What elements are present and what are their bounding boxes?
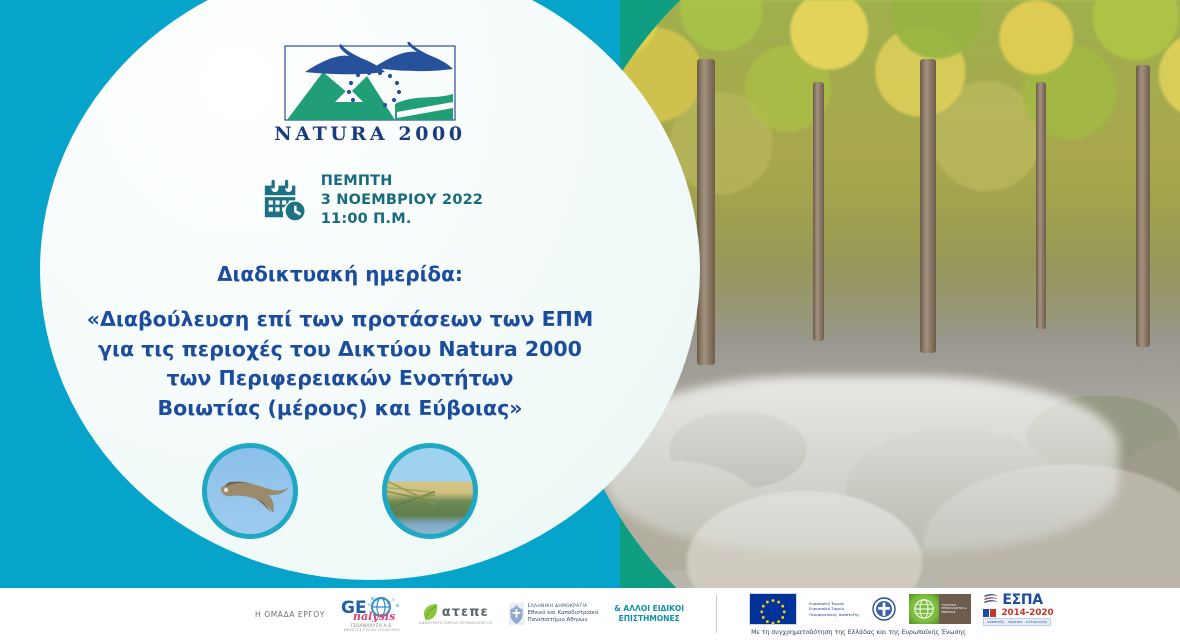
poster-canvas: NATURA 2000 (0, 0, 1180, 640)
espa-tagline: ανάπτυξη - εργασία - αλληλεγγύη (983, 618, 1051, 626)
geoanalysis-caption-2: ΜΕΛΕΤΕΣ ΕΡΓΩΝ ΥΠΟΔΟΜΗΣ (344, 628, 400, 632)
european-union-flag (749, 593, 797, 625)
stream-water (606, 376, 1119, 552)
footer-divider (716, 595, 717, 633)
poster-content: NATURA 2000 (60, 0, 680, 588)
event-title-line: των Περιφερειακών Ενοτήτων (60, 364, 620, 394)
eu-caption: Ευρωπαϊκή Ένωση Ευρωπαϊκό Ταμείο Περιφερ… (809, 601, 859, 616)
event-date: 3 ΝΟΕΜΒΡΙΟΥ 2022 (321, 191, 483, 210)
inset-photo-group (60, 443, 620, 539)
natura-logo-wordmark: NATURA 2000 (274, 123, 465, 145)
other-scientists-line-1: & ΑΛΛΟΙ ΕΙΔΙΚΟΙ (614, 604, 684, 615)
event-time: 11:00 Π.Μ. (321, 210, 483, 229)
atepe-logo[interactable]: ατεπε ΑΝΩΝΥΜΗ ΕΤΑΙΡΕΙΑ ΠΕΡΙΒΑΛΛΟΝΤΟΣ (419, 603, 493, 625)
svg-text:nalysis: nalysis (353, 610, 395, 622)
calendar-clock-icon (261, 178, 307, 224)
espa-logo[interactable]: ΕΣΠΑ 2014-2020 ανάπτυξη - εργασία - αλλη… (983, 592, 1053, 626)
other-scientists-line-2: ΕΠΙΣΤΗΜΟΝΕΣ (614, 614, 684, 625)
hellenic-republic-emblem (871, 594, 897, 624)
natura-2000-logo: NATURA 2000 (245, 42, 495, 147)
photo-falcon-in-flight (202, 443, 298, 539)
ministry-environment-logo[interactable]: ΥΠΟΥΡΓΕΙΟ ΠΕΡΙΒΑΛΛΟΝΤΟΣ & ΕΝΕΡΓΕΙΑΣ (909, 594, 971, 624)
event-subtitle: Διαδικτυακή ημερίδα: (60, 262, 620, 286)
espa-flags-icon (983, 609, 997, 618)
uoa-line-2: Εθνικό και Καποδιστριακό (528, 610, 599, 617)
espa-wordmark: ΕΣΠΑ (1002, 592, 1042, 608)
photo-wetland-reeds (382, 443, 478, 539)
event-day: ΠΕΜΠΤΗ (321, 172, 483, 191)
ministry-name-plate: ΥΠΟΥΡΓΕΙΟ ΠΕΡΙΒΑΛΛΟΝΤΟΣ & ΕΝΕΡΓΕΙΑΣ (939, 594, 971, 624)
espa-swoosh-icon (983, 593, 999, 607)
leaf-icon (423, 603, 439, 621)
event-title-line: Βοιωτίας (μέρους) και Εύβοιας» (60, 394, 620, 424)
team-label: Η ΟΜΑΔΑ ΕΡΓΟΥ (255, 610, 325, 619)
footer-partners: Η ΟΜΑΔΑ ΕΡΓΟΥ GE nalysis ΓΕΩΑ (0, 588, 1053, 640)
geoanalysis-mark-icon: GE nalysis (341, 596, 403, 622)
ministry-globe-icon (909, 594, 939, 624)
falcon-silhouette-icon (215, 470, 295, 520)
cofunding-block: Ευρωπαϊκή Ένωση Ευρωπαϊκό Ταμείο Περιφερ… (749, 592, 1053, 636)
event-title: «Διαβούλευση επί των προτάσεων των ΕΠΜ γ… (60, 305, 620, 424)
cofunding-statement: Με τη συγχρηματοδότηση της Ελλάδας και τ… (749, 629, 966, 636)
uoa-emblem-icon (509, 603, 524, 625)
ministry-name-text: ΥΠΟΥΡΓΕΙΟ ΠΕΡΙΒΑΛΛΟΝΤΟΣ & ΕΝΕΡΓΕΙΑΣ (941, 604, 969, 614)
reeds-detail (387, 458, 435, 534)
atepe-caption: ΑΝΩΝΥΜΗ ΕΤΑΙΡΕΙΑ ΠΕΡΙΒΑΛΛΟΝΤΟΣ (419, 621, 493, 625)
event-title-line: για τις περιοχές του Δικτύου Natura 2000 (60, 335, 620, 365)
event-title-line: «Διαβούλευση επί των προτάσεων των ΕΠΜ (60, 305, 620, 335)
atepe-wordmark: ατεπε (442, 605, 489, 620)
uoa-line-3: Πανεπιστήμιο Αθηνών (528, 617, 599, 624)
other-scientists-label: & ΑΛΛΟΙ ΕΙΔΙΚΟΙ ΕΠΙΣΤΗΜΟΝΕΣ (614, 604, 684, 625)
geoanalysis-logo[interactable]: GE nalysis ΓΕΩΑΝΑΛΥΣΗ Α.Ε. ΜΕΛΕΤΕΣ ΕΡΓΩΝ… (341, 596, 403, 632)
footer-logo-bar: Η ΟΜΑΔΑ ΕΡΓΟΥ GE nalysis ΓΕΩΑ (0, 588, 1180, 640)
espa-years: 2014-2020 (1001, 608, 1053, 618)
event-datetime: ΠΕΜΠΤΗ 3 ΝΟΕΜΒΡΙΟΥ 2022 11:00 Π.Μ. (112, 172, 632, 229)
uoa-logo[interactable]: ΕΛΛΗΝΙΚΗ ΔΗΜΟΚΡΑΤΙΑ Εθνικό και Καποδιστρ… (509, 603, 599, 625)
eu-line-3: Περιφερειακής Ανάπτυξης (809, 612, 859, 617)
